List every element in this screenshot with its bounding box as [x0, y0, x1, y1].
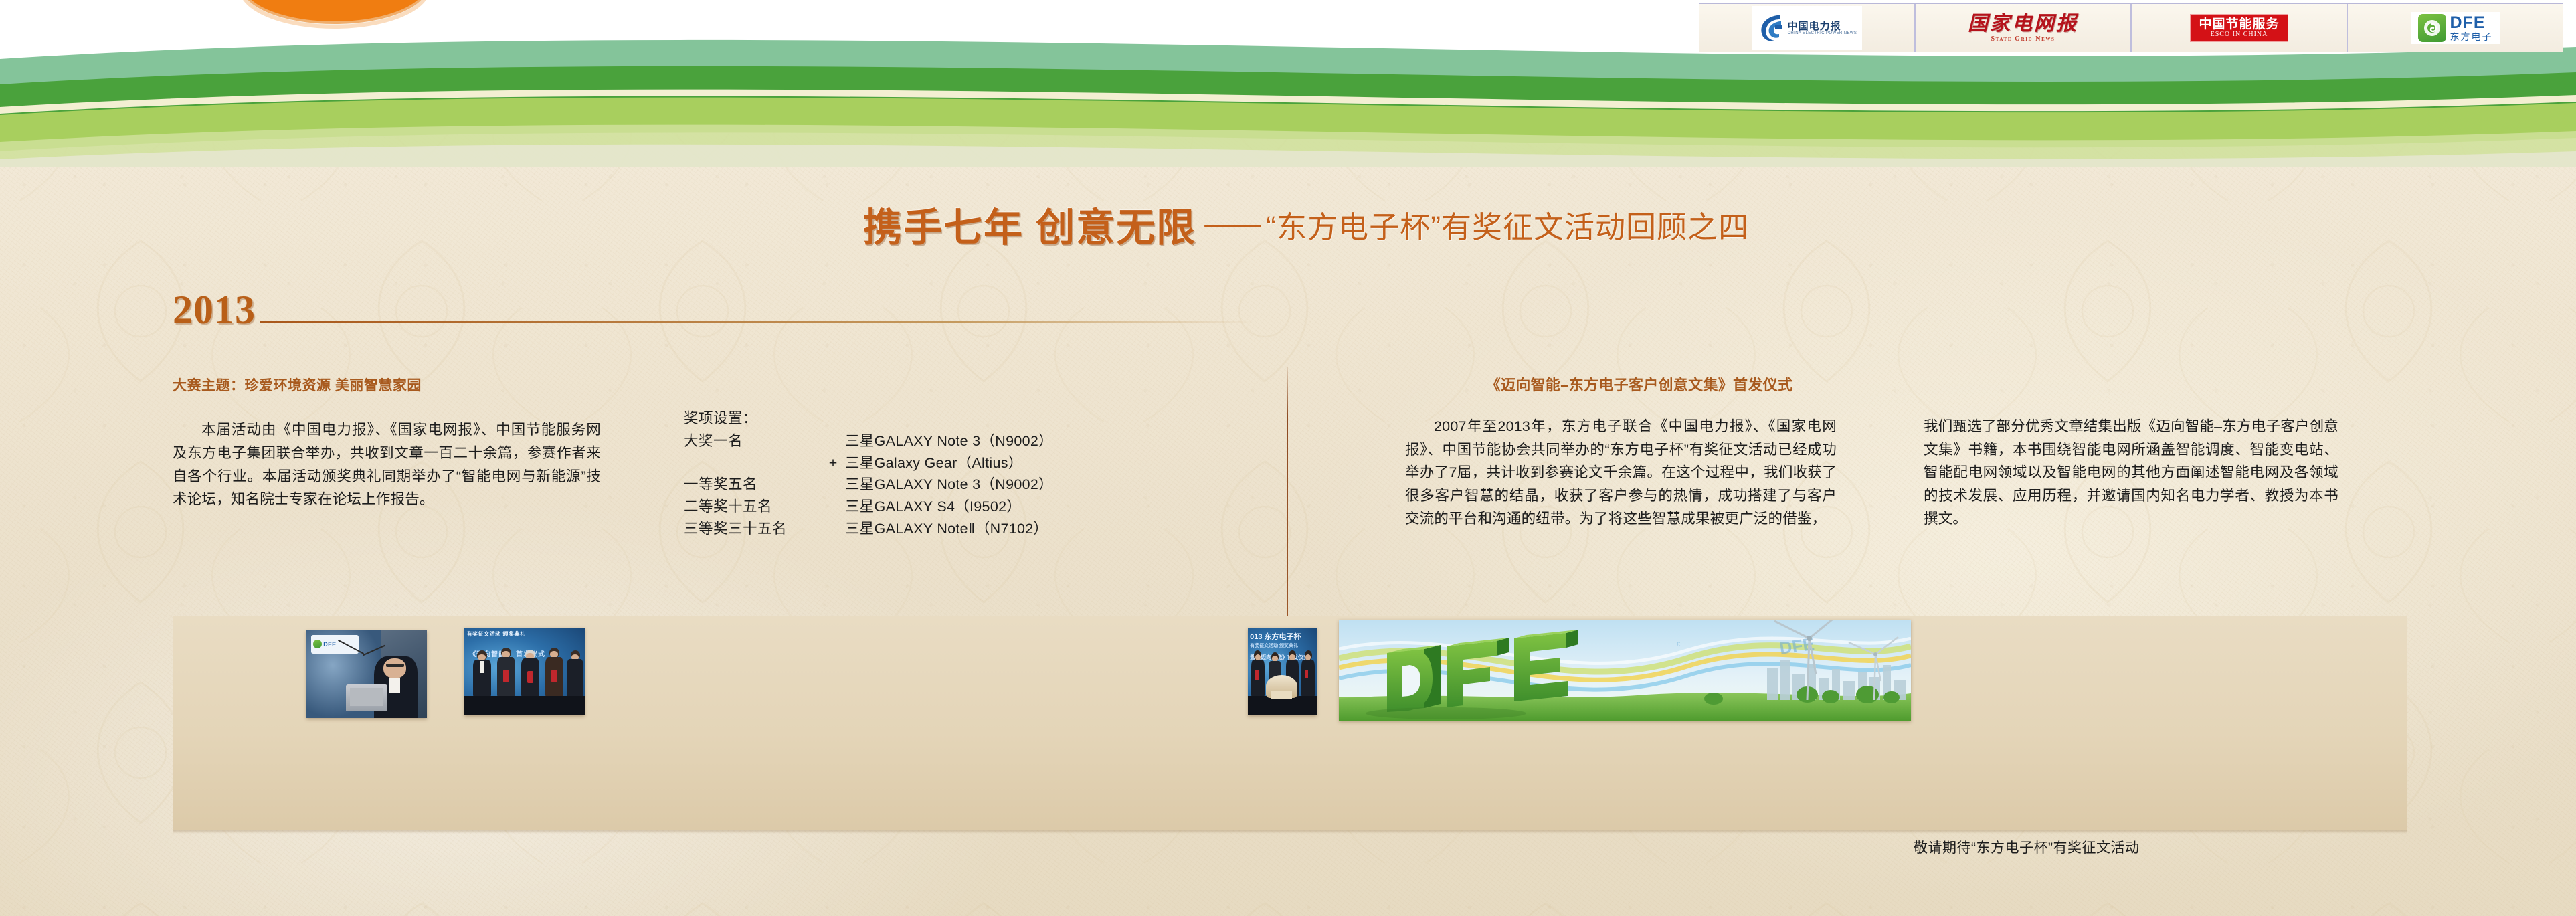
footer-caption: 敬请期待“东方电子杯”有奖征文活动	[1914, 837, 2342, 857]
photo-forum-speaker: DFE	[306, 630, 427, 718]
contest-subject: 大赛主题：珍爱环境资源 美丽智慧家园	[173, 375, 775, 395]
dfe-icon	[2418, 14, 2446, 42]
prize-value: 三星GALAXY NoteⅡ（N7102）	[845, 518, 1259, 540]
prize-name: 二等奖十五名	[684, 496, 821, 518]
left-description: 本届活动由《中国电力报》、《国家电网报》、中国节能服务网及东方电子集团联合举办，…	[173, 418, 601, 511]
prize-list: 奖项设置： 大奖一名 三星GALAXY Note 3（N9002） + 三星Ga…	[684, 407, 1259, 539]
book-launch-paragraph-1: 2007年至2013年，东方电子联合《中国电力报》、《国家电网报》、中国节能协会…	[1405, 415, 1837, 531]
prize-name: 大奖一名	[684, 430, 821, 452]
esco-label: 中国节能服务	[2199, 18, 2279, 31]
photo-band: DFE 有奖征文活动 颁奖典礼 《迈向智能》 首发仪式	[173, 616, 2407, 830]
logo-china-power-news: 中国电力报 CHINA ELECTRIC POWER NEWS	[1699, 4, 1916, 52]
table-row: 三等奖三十五名 三星GALAXY NoteⅡ（N7102）	[684, 518, 1259, 540]
book-launch-paragraph-2-text: 我们甄选了部分优秀文章结集出版《迈向智能–东方电子客户创意文集》书籍，本书围绕智…	[1924, 415, 2338, 531]
dfe-cn-label: 东方电子	[2450, 32, 2493, 41]
dfe-en-label: DFE	[2450, 15, 2493, 31]
china-power-news-label: 中国电力报	[1788, 21, 1857, 31]
prize-value: 三星GALAXY Note 3（N9002）	[845, 474, 1259, 496]
photo-dfe-green-scene: DFE ε	[1339, 620, 1911, 721]
book-launch-heading: 《迈向智能–东方电子客户创意文集》首发仪式	[1405, 373, 1873, 395]
book-launch-paragraph-2: 我们甄选了部分优秀文章结集出版《迈向智能–东方电子客户创意文集》书籍，本书围绕智…	[1924, 415, 2338, 531]
state-grid-news-label: 国家电网报	[1968, 14, 2078, 34]
table-row: 一等奖五名 三星GALAXY Note 3（N9002）	[684, 474, 1259, 496]
logo-esco-in-china: 中国节能服务 ESCO IN CHINA	[2132, 4, 2348, 52]
logo-state-grid-news: 国家电网报 State Grid News	[1916, 4, 2132, 52]
prize-value: 三星GALAXY Note 3（N9002）	[845, 430, 1259, 452]
prize-list-heading: 奖项设置：	[684, 407, 1259, 428]
photo-book-launch: 013 东方电子杯 有奖征文活动 颁奖典礼 暨《迈向智能》首发仪式	[1248, 628, 1317, 715]
photo-award-group: 有奖征文活动 颁奖典礼 《迈向智能》 首发仪式	[464, 628, 585, 715]
state-grid-news-sublabel: State Grid News	[1968, 36, 2078, 43]
year-rule	[260, 321, 1257, 323]
china-power-news-icon	[1757, 12, 1785, 44]
photo-band-shadow	[173, 830, 2407, 834]
table-row: 二等奖十五名 三星GALAXY S4（I9502）	[684, 496, 1259, 518]
table-row: 大奖一名 三星GALAXY Note 3（N9002）	[684, 430, 1259, 452]
prize-value: 三星GALAXY S4（I9502）	[845, 496, 1259, 518]
prize-name: 三等奖三十五名	[684, 518, 821, 540]
china-power-news-sublabel: CHINA ELECTRIC POWER NEWS	[1788, 31, 1857, 35]
title-dash: ——	[1204, 207, 1258, 241]
year-label: 2013	[173, 291, 256, 329]
prize-plus: +	[821, 452, 845, 474]
left-description-text: 本届活动由《中国电力报》、《国家电网报》、中国节能服务网及东方电子集团联合举办，…	[173, 418, 601, 511]
prize-value: 三星Galaxy Gear（Altius）	[845, 452, 1259, 474]
table-row: + 三星Galaxy Gear（Altius）	[684, 452, 1259, 474]
year-heading-row: 2013	[173, 288, 1257, 329]
page-title: 携手七年 创意无限 —— “东方电子杯”有奖征文活动回顾之四	[863, 198, 2322, 250]
title-rest-part: “东方电子杯”有奖征文活动回顾之四	[1266, 203, 1749, 246]
title-bold-part: 携手七年 创意无限	[863, 196, 1196, 252]
book-launch-paragraph-1-text: 2007年至2013年，东方电子联合《中国电力报》、《国家电网报》、中国节能协会…	[1405, 415, 1837, 531]
sponsor-logo-strip: 中国电力报 CHINA ELECTRIC POWER NEWS 国家电网报 St…	[1699, 3, 2563, 52]
svg-text:ε: ε	[1677, 639, 1681, 648]
logo-dfe: DFE 东方电子	[2348, 4, 2563, 52]
prize-name: 一等奖五名	[684, 474, 821, 496]
esco-sublabel: ESCO IN CHINA	[2199, 31, 2279, 39]
